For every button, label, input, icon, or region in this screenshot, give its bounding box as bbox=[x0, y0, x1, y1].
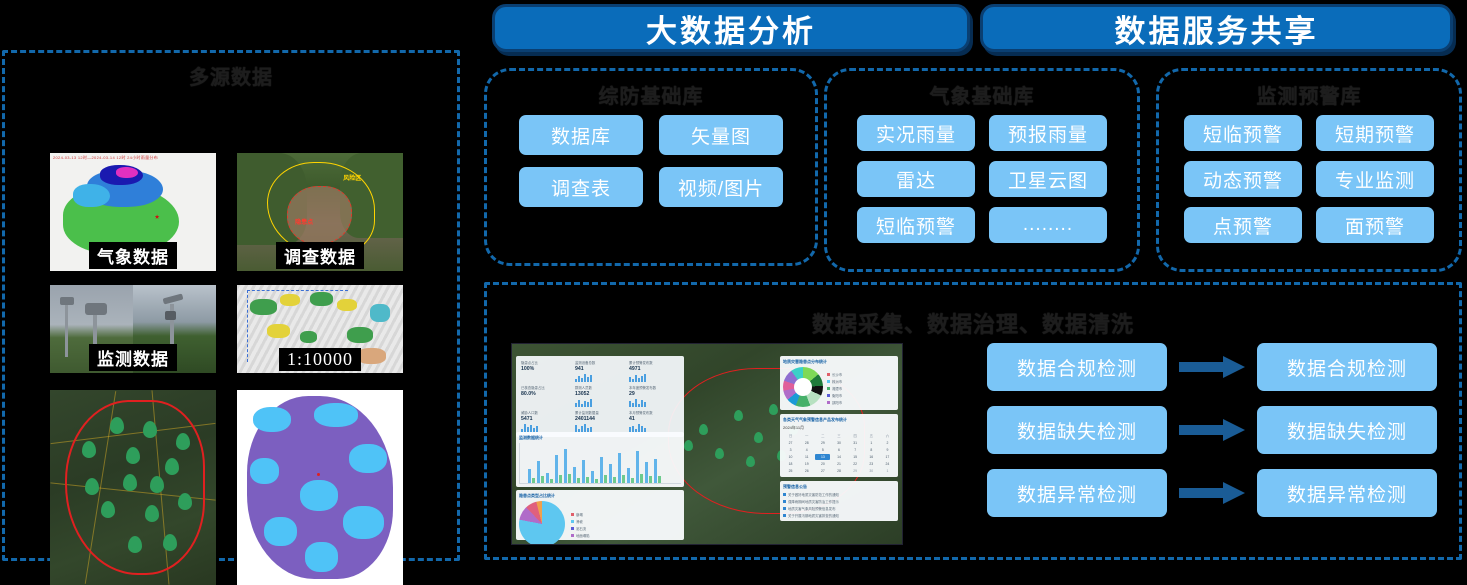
density-cluster bbox=[253, 407, 291, 433]
risk-zone-label: 风险区 bbox=[343, 173, 361, 182]
thumb-caption: 1:10000 bbox=[279, 348, 361, 371]
calendar-day[interactable]: 24 bbox=[880, 461, 895, 467]
calendar-day[interactable]: 3 bbox=[783, 447, 798, 453]
calendar-weekday: 五 bbox=[864, 433, 879, 439]
stat-grid: 隐患点占比 100% 监测设备总数 941 累计预警发布数 4971 已 bbox=[519, 359, 681, 434]
density-cluster bbox=[264, 517, 296, 546]
infographic-root: 多源数据 2024-03-13 12时—2024-03-14 12时 24小时雨… bbox=[0, 0, 1467, 561]
calendar-day[interactable]: 4 bbox=[799, 447, 814, 453]
dashboard-bar-chart-card: 监测数据统计 bbox=[516, 432, 684, 487]
stat-value: 4971 bbox=[629, 366, 679, 373]
calendar-card: 各类天气气象预警信息产品发布统计 2024年11月 日 一 二 三 四 五 六 … bbox=[780, 414, 898, 477]
calendar-day[interactable]: 29 bbox=[815, 440, 830, 446]
dashboard-right-panel: 地质灾害隐患点分布统计 长沙市 株洲市 湘潭市 衡阳市 邵阳市 各类天气气象预警 bbox=[780, 356, 898, 525]
anemometer bbox=[162, 293, 183, 304]
calendar-day[interactable]: 29 bbox=[848, 468, 863, 474]
calendar-day[interactable]: 7 bbox=[848, 447, 863, 453]
dashboard-screenshot: 隐患点占比 100% 监测设备总数 941 累计预警发布数 4971 已 bbox=[511, 343, 903, 545]
library-item-grid: 实况雨量 预报雨量 雷达 卫星云图 短临预警 ........ bbox=[827, 115, 1137, 243]
sparkline bbox=[575, 398, 625, 407]
library-item-short-term-warning[interactable]: 短期预警 bbox=[1316, 115, 1434, 151]
banner-data-service-sharing[interactable]: 数据服务共享 bbox=[980, 4, 1453, 52]
province-shape bbox=[247, 396, 393, 579]
thumb-caption: 气象数据 bbox=[89, 242, 177, 269]
station-pin bbox=[746, 456, 755, 467]
legend-item: 泥石流 bbox=[571, 526, 681, 531]
stat-card: 累计预警发布数 4971 bbox=[627, 359, 681, 384]
library-box-meteorology: 气象基础库 实况雨量 预报雨量 雷达 卫星云图 短临预警 ........ bbox=[824, 68, 1140, 272]
stat-value: 29 bbox=[629, 391, 679, 398]
list-item[interactable]: 关于开展汛期地质灾害排查的通知 bbox=[783, 513, 895, 518]
stat-card: 隐患点占比 100% bbox=[519, 359, 573, 384]
library-title: 综防基础库 bbox=[487, 80, 815, 109]
detection-row: 数据异常检测 数据异常检测 bbox=[987, 469, 1437, 517]
calendar-day[interactable]: 27 bbox=[815, 468, 830, 474]
library-title: 监测预警库 bbox=[1159, 80, 1459, 109]
list-item[interactable]: 地质灾害气象风险预警信息发布 bbox=[783, 506, 895, 511]
station-pin bbox=[85, 478, 99, 495]
library-item-professional-monitoring[interactable]: 专业监测 bbox=[1316, 161, 1434, 197]
density-cluster bbox=[343, 506, 384, 539]
station-pin bbox=[150, 476, 164, 493]
calendar-day-selected[interactable]: 13 bbox=[815, 454, 830, 460]
station-pin bbox=[734, 410, 743, 421]
data-pipeline-panel: 数据采集、数据治理、数据清洗 隐患点占比 100% bbox=[484, 282, 1462, 560]
sparkline bbox=[629, 398, 679, 407]
calendar-weekday: 六 bbox=[880, 433, 895, 439]
detection-result-missing[interactable]: 数据缺失检测 bbox=[1257, 406, 1437, 454]
calendar-day[interactable]: 30 bbox=[831, 440, 846, 446]
stat-value: 5471 bbox=[521, 416, 571, 423]
bar-chart bbox=[519, 443, 681, 484]
stat-card: 群测人员数 13052 bbox=[573, 384, 627, 409]
station-pin bbox=[101, 501, 115, 518]
calendar-day[interactable]: 21 bbox=[831, 461, 846, 467]
station-pin bbox=[699, 424, 708, 435]
calendar-month: 2024年11月 bbox=[783, 425, 895, 431]
map-region-cyan bbox=[73, 184, 110, 208]
legend-item: 地面塌陷 bbox=[571, 533, 681, 538]
station-pin bbox=[123, 474, 137, 491]
capital-marker bbox=[317, 473, 320, 476]
library-item-radar[interactable]: 雷达 bbox=[857, 161, 975, 197]
library-title: 气象基础库 bbox=[827, 80, 1137, 109]
detection-source-missing[interactable]: 数据缺失检测 bbox=[987, 406, 1167, 454]
card-title: 预警信息公告 bbox=[783, 484, 895, 490]
station-pin bbox=[165, 458, 179, 475]
card-title: 各类天气气象预警信息产品发布统计 bbox=[783, 417, 895, 423]
banner-big-data-analysis[interactable]: 大数据分析 bbox=[492, 4, 970, 52]
station-pin bbox=[145, 505, 159, 522]
library-item-nowcast-warning[interactable]: 短临预警 bbox=[857, 207, 975, 243]
calendar-day[interactable]: 8 bbox=[864, 447, 879, 453]
calendar-day[interactable]: 28 bbox=[831, 468, 846, 474]
library-item-video-image[interactable]: 视频/图片 bbox=[659, 167, 783, 207]
calendar-day[interactable]: 5 bbox=[815, 447, 830, 453]
calendar-day[interactable]: 31 bbox=[848, 440, 863, 446]
thumb-weather-data: 2024-03-13 12时—2024-03-14 12时 24小时雨量分布 气… bbox=[50, 153, 216, 271]
library-item-vector-map[interactable]: 矢量图 bbox=[659, 115, 783, 155]
library-item-area-warning[interactable]: 面预警 bbox=[1316, 207, 1434, 243]
sparkline bbox=[629, 373, 679, 382]
calendar-day[interactable]: 28 bbox=[799, 440, 814, 446]
density-cluster bbox=[300, 480, 338, 511]
station-pin bbox=[128, 536, 142, 553]
legend-item: 滑坡 bbox=[571, 519, 681, 524]
library-item-forecast-rainfall[interactable]: 预报雨量 bbox=[989, 115, 1107, 151]
hazard-point-outline bbox=[287, 186, 352, 245]
library-item-more[interactable]: ........ bbox=[989, 207, 1107, 243]
legend-item: 崩塌 bbox=[571, 512, 681, 517]
stat-card: 本月预警发布数 41 bbox=[627, 409, 681, 434]
pie-chart bbox=[519, 501, 565, 545]
sparkline bbox=[521, 423, 571, 432]
stat-value: 100% bbox=[521, 366, 571, 373]
left-panel-title: 多源数据 bbox=[5, 61, 457, 90]
calendar-weekday: 四 bbox=[848, 433, 863, 439]
library-item-grid: 数据库 矢量图 调查表 视频/图片 bbox=[487, 115, 815, 207]
library-item-observed-rainfall[interactable]: 实况雨量 bbox=[857, 115, 975, 151]
calendar-day[interactable]: 26 bbox=[799, 468, 814, 474]
stat-value: 80.0% bbox=[521, 391, 571, 398]
detection-row: 数据缺失检测 数据缺失检测 bbox=[987, 406, 1437, 454]
calendar-weekday: 一 bbox=[799, 433, 814, 439]
sensor-box bbox=[165, 311, 176, 320]
library-box-monitoring-warning: 监测预警库 短临预警 短期预警 动态预警 专业监测 点预警 面预警 bbox=[1156, 68, 1462, 272]
stat-value: 13052 bbox=[575, 391, 625, 398]
map-patch-water bbox=[370, 304, 390, 322]
hazard-point-label: 隐患点 bbox=[295, 217, 313, 226]
library-item-point-warning[interactable]: 点预警 bbox=[1184, 207, 1302, 243]
calendar-day[interactable]: 25 bbox=[783, 468, 798, 474]
station-pin bbox=[715, 448, 724, 459]
legend-item: 衡阳市 bbox=[827, 393, 895, 398]
calendar-day[interactable]: 11 bbox=[799, 454, 814, 460]
station-pin bbox=[110, 417, 124, 434]
calendar-grid[interactable]: 日 一 二 三 四 五 六 272829303112 3456789 10111… bbox=[783, 433, 895, 474]
list-item[interactable]: 强降雨期间地质灾害防治工作提示 bbox=[783, 499, 895, 504]
library-item-nowcast-warning[interactable]: 短临预警 bbox=[1184, 115, 1302, 151]
stat-value: 41 bbox=[629, 416, 679, 423]
calendar-day[interactable]: 16 bbox=[864, 454, 879, 460]
station-pin bbox=[82, 441, 96, 458]
calendar-day[interactable]: 27 bbox=[783, 440, 798, 446]
calendar-day[interactable]: 30 bbox=[864, 468, 879, 474]
arrow-right-icon bbox=[1167, 406, 1257, 454]
calendar-day[interactable]: 15 bbox=[848, 454, 863, 460]
card-title: 地质灾害隐患点分布统计 bbox=[783, 359, 895, 365]
density-cluster bbox=[314, 403, 358, 427]
dashboard-pie-chart-card: 隐患点类型占比统计 崩塌 滑坡 泥石流 地面塌陷 bbox=[516, 490, 684, 540]
station-pin bbox=[754, 432, 763, 443]
pole-mast bbox=[65, 301, 68, 357]
multi-source-data-panel: 多源数据 2024-03-13 12时—2024-03-14 12时 24小时雨… bbox=[2, 50, 460, 561]
sparkline bbox=[629, 423, 679, 432]
legend-item: 邵阳市 bbox=[827, 400, 895, 405]
calendar-day[interactable]: 9 bbox=[880, 447, 895, 453]
station-pin bbox=[176, 433, 190, 450]
legend-item: 长沙市 bbox=[827, 372, 895, 377]
library-item-dynamic-warning[interactable]: 动态预警 bbox=[1184, 161, 1302, 197]
calendar-day[interactable]: 23 bbox=[864, 461, 879, 467]
sparkline bbox=[575, 423, 625, 432]
calendar-day[interactable]: 14 bbox=[831, 454, 846, 460]
calendar-day[interactable]: 17 bbox=[880, 454, 895, 460]
notice-list-card: 预警信息公告 关于做好地质灾害防范工作的通知 强降雨期间地质灾害防治工作提示 地… bbox=[780, 481, 898, 521]
density-cluster bbox=[305, 542, 337, 571]
legend-item: 株洲市 bbox=[827, 379, 895, 384]
stat-value: 2401144 bbox=[575, 416, 625, 423]
card-title: 隐患点类型占比统计 bbox=[519, 493, 681, 499]
detection-source-compliance[interactable]: 数据合规检测 bbox=[987, 343, 1167, 391]
calendar-day[interactable]: 10 bbox=[783, 454, 798, 460]
stat-card: 累计监测数据量 2401144 bbox=[573, 409, 627, 434]
donut-chart bbox=[783, 367, 823, 407]
thumb-monitoring-data: 监测数据 bbox=[50, 285, 216, 373]
donut-chart-card: 地质灾害隐患点分布统计 长沙市 株洲市 湘潭市 衡阳市 邵阳市 bbox=[780, 356, 898, 410]
calendar-day[interactable]: 22 bbox=[848, 461, 863, 467]
map-patch bbox=[347, 327, 374, 343]
detection-result-anomaly[interactable]: 数据异常检测 bbox=[1257, 469, 1437, 517]
sensor-head bbox=[85, 303, 107, 315]
thumb-caption: 监测数据 bbox=[89, 344, 177, 371]
calendar-weekday: 三 bbox=[831, 433, 846, 439]
thumb-satellite-station-map bbox=[50, 390, 216, 585]
detection-result-compliance[interactable]: 数据合规检测 bbox=[1257, 343, 1437, 391]
calendar-day[interactable]: 2 bbox=[880, 440, 895, 446]
stat-card: 本年度预警发布数 29 bbox=[627, 384, 681, 409]
calendar-weekday: 日 bbox=[783, 433, 798, 439]
thumb-population-density-map bbox=[237, 390, 403, 585]
calendar-day[interactable]: 6 bbox=[831, 447, 846, 453]
library-item-survey-form[interactable]: 调查表 bbox=[519, 167, 643, 207]
weather-map-header: 2024-03-13 12时—2024-03-14 12时 24小时雨量分布 bbox=[53, 155, 158, 161]
thumb-geology-map: 1:10000 bbox=[237, 285, 403, 373]
arrow-right-icon bbox=[1167, 469, 1257, 517]
density-cluster bbox=[349, 444, 387, 473]
station-pin bbox=[143, 421, 157, 438]
calendar-day[interactable]: 1 bbox=[880, 468, 895, 474]
calendar-day[interactable]: 19 bbox=[799, 461, 814, 467]
density-cluster bbox=[250, 458, 279, 484]
station-pin bbox=[178, 493, 192, 510]
sensor-head bbox=[60, 297, 74, 305]
card-title: 监测数据统计 bbox=[519, 435, 681, 441]
calendar-weekday: 二 bbox=[815, 433, 830, 439]
map-region-magenta bbox=[116, 167, 138, 178]
detection-row: 数据合规检测 数据合规检测 bbox=[987, 343, 1437, 391]
stat-card: 威胁人口数 5471 bbox=[519, 409, 573, 434]
stat-card: 已核查隐患占比 80.0% bbox=[519, 384, 573, 409]
calendar-day[interactable]: 20 bbox=[815, 461, 830, 467]
calendar-day[interactable]: 18 bbox=[783, 461, 798, 467]
calendar-day[interactable]: 1 bbox=[864, 440, 879, 446]
station-pin bbox=[163, 534, 177, 551]
detection-pipeline: 数据合规检测 数据合规检测 数据缺失检测 数据缺失检测 数据异常检测 bbox=[987, 343, 1437, 543]
library-item-grid: 短临预警 短期预警 动态预警 专业监测 点预警 面预警 bbox=[1159, 115, 1459, 243]
station-pin bbox=[684, 440, 693, 451]
library-item-satellite-cloud[interactable]: 卫星云图 bbox=[989, 161, 1107, 197]
data-pipeline-title: 数据采集、数据治理、数据清洗 bbox=[487, 307, 1459, 339]
thumb-caption: 调查数据 bbox=[276, 242, 364, 269]
arrow-right-icon bbox=[1167, 343, 1257, 391]
library-item-database[interactable]: 数据库 bbox=[519, 115, 643, 155]
stat-value: 941 bbox=[575, 366, 625, 373]
legend-item: 湘潭市 bbox=[827, 386, 895, 391]
library-box-comprehensive: 综防基础库 数据库 矢量图 调查表 视频/图片 bbox=[484, 68, 818, 266]
list-item[interactable]: 关于做好地质灾害防范工作的通知 bbox=[783, 492, 895, 497]
detection-source-anomaly[interactable]: 数据异常检测 bbox=[987, 469, 1167, 517]
stat-card: 监测设备总数 941 bbox=[573, 359, 627, 384]
thumb-survey-data: 风险区 隐患点 调查数据 bbox=[237, 153, 403, 271]
dashboard-stats-panel: 隐患点占比 100% 监测设备总数 941 累计预警发布数 4971 已 bbox=[516, 356, 684, 437]
sparkline bbox=[575, 373, 625, 382]
